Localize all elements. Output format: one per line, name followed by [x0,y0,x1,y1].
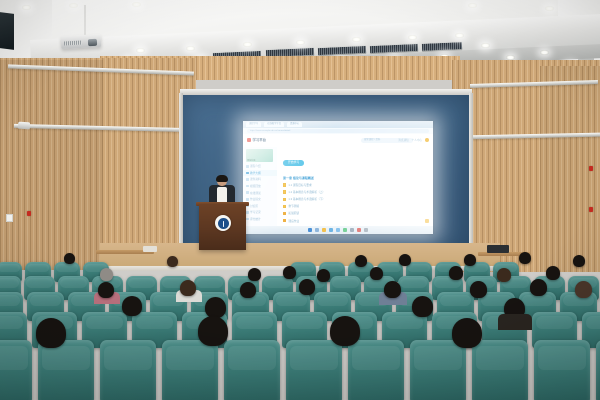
seat [38,340,94,400]
ceiling-downlight-icon [455,33,464,38]
ceiling-downlight-icon [136,48,145,53]
ceiling-downlight-icon [352,37,361,42]
audience-head [299,279,315,295]
wall-speaker-panel [0,12,14,50]
browser-tab[interactable]: 在线教学平台 [264,122,284,127]
audience-head [452,318,482,348]
start-learning-button[interactable]: 开始学习 [283,160,304,166]
sidebar-item-label: 课件资料 [250,177,261,181]
taskbar-office-icon[interactable] [357,228,362,233]
video-icon [283,190,286,193]
ceiling-downlight-icon [408,35,417,40]
sidebar-item-label: 教学大纲 [250,171,261,175]
audience-head [370,267,383,280]
list-item-label: 1.2 基本概念与术语解析（上） [288,190,325,194]
header-link-profile[interactable]: 个人中心 [412,138,422,142]
audience-head [180,280,196,296]
audience-head [384,281,401,298]
ceiling-downlight-icon [243,42,252,47]
audience-head [167,256,178,267]
backdrop-trim-right [469,93,473,255]
sidebar-item-quiz[interactable]: 在线测试 [243,189,277,196]
ceiling-downlight-icon [468,3,477,8]
list-item[interactable]: 课后作业 [283,219,428,223]
ceiling-downlight-icon [545,6,554,11]
sidebar-item-label: 课程介绍 [250,164,261,168]
audience-head [464,254,476,266]
sidebar-item-stats[interactable]: 评分统计 [243,216,277,223]
ceiling-downlight-icon [186,46,195,51]
av-equipment [143,246,157,252]
audience-head [497,268,511,282]
browser-tab[interactable]: 课程学习 [246,122,261,127]
sidebar-item-label: 学习记录 [250,210,261,214]
fire-alarm-icon [27,211,31,216]
seat [286,340,342,400]
list-bullet-icon [246,172,249,175]
seat [596,340,600,400]
auditorium-screenshot: 课程学习 在线教学平台 资源中心 https://www.example.edu… [0,0,600,400]
emblem-mark-icon [223,221,225,227]
video-icon [283,183,286,186]
security-camera-icon [18,122,30,130]
ceiling-downlight-icon [481,43,490,48]
seat-row [0,340,600,400]
audience-head [36,318,66,348]
seat [100,340,156,400]
list-item-label: 1.3 基本概念与术语解析（下） [288,197,325,201]
audience-shoulders [498,314,532,330]
course-thumbnail: 课程封面 [246,149,273,162]
list-item-label: 课后作业 [288,219,299,223]
audience-head [283,266,296,279]
list-item-label: 章节测验 [288,204,299,208]
browser-tab-bar: 课程学习 在线教学平台 资源中心 [243,121,433,128]
taskbar-start-icon[interactable] [308,228,313,233]
taskbar-player-icon[interactable] [350,228,355,233]
audience-head [575,281,592,298]
seat [0,340,32,400]
list-item-label: 1.1 课程目标与要求 [288,183,311,187]
audience-head [64,253,75,264]
doc-icon [283,212,286,215]
fire-alarm-icon [589,166,593,171]
list-item[interactable]: 拓展阅读 [283,211,428,215]
ceiling-downlight-icon [22,5,31,10]
audience-head [98,282,114,298]
audience-head [248,268,261,281]
ceiling-downlight-icon [69,3,78,8]
av-equipment [487,245,509,253]
audience-head [412,296,433,317]
logo-mark-icon [247,138,251,142]
browser-tab[interactable]: 资源中心 [287,122,302,127]
audience-head [122,296,142,316]
projector-mount-pole [84,5,86,36]
taskbar-mail-icon[interactable] [336,228,341,233]
audience-head [573,255,585,267]
audience-head [317,269,330,282]
audience-head [205,297,226,318]
list-bullet-icon [246,165,249,168]
air-vent-icon [422,41,462,52]
audience-head [330,316,360,346]
sidebar-item-intro[interactable]: 课程介绍 [243,163,277,170]
sidebar-item-label: 视频回放 [250,184,261,188]
site-logo-text: 学习平台 [253,137,267,142]
ceiling-downlight-icon [132,2,141,7]
header-links: 消息通知 个人中心 [398,138,429,142]
list-item[interactable]: 1.3 基本概念与术语解析（下） [283,197,428,201]
seat [162,340,218,400]
seat [410,340,466,400]
sidebar-item-records[interactable]: 学习记录 [243,209,277,216]
avatar[interactable] [425,138,429,142]
audience-head [470,281,487,298]
list-item[interactable]: 1.2 基本概念与术语解析（上） [283,190,428,194]
wall-outlet-icon [6,214,13,222]
taskbar-chat-icon[interactable] [343,228,348,233]
status-badge [425,219,430,224]
audience-head [449,266,463,280]
doc-icon [283,219,286,222]
sidebar-item-syllabus[interactable]: 教学大纲 [243,170,277,177]
section-heading: 第一章 绪论与课程概述 [283,176,428,180]
course-content: 开始学习 第一章 绪论与课程概述 1.1 课程目标与要求 1.2 基本概念与术语… [277,147,433,226]
list-bullet-icon [246,211,249,214]
seat [534,340,590,400]
sidebar-item-label: 作业提交 [250,197,261,201]
audience-head [240,282,256,298]
taskbar-search-icon[interactable] [315,228,320,233]
ceiling-downlight-icon [540,50,549,55]
os-taskbar [243,226,433,234]
audience-head [100,268,113,281]
audience-head [546,266,560,280]
taskbar-notes-icon[interactable] [364,228,369,233]
projection-screen: 课程学习 在线教学平台 资源中心 https://www.example.edu… [243,121,433,234]
emblem-inner-disc [218,218,229,229]
ceiling-downlight-icon [296,40,305,45]
taskbar-explorer-icon[interactable] [322,228,327,233]
audience-head [530,279,547,296]
wall-panel-left-near [0,60,103,270]
list-bullet-icon [246,198,249,201]
institution-emblem [215,215,231,231]
course-sidebar: 课程封面 课程介绍 教学大纲 课件资料 视频回放 [243,147,278,226]
sidebar-item-label: 在线测试 [250,191,261,195]
sidebar-item-label: 评分统计 [250,217,261,221]
audience-head [198,316,228,346]
list-bullet-icon [246,191,249,194]
quiz-icon [283,205,286,208]
seat [348,340,404,400]
fire-alarm-icon [589,207,593,212]
header-link-messages[interactable]: 消息通知 [398,138,408,142]
audience-head [399,254,411,266]
list-item[interactable]: 1.1 课程目标与要求 [283,183,428,187]
list-item-label: 拓展阅读 [288,211,299,215]
backdrop-trim-left [179,93,183,255]
taskbar-browser-icon[interactable] [329,228,334,233]
url-input[interactable]: https://www.example.edu.cn/course/detail [247,129,429,133]
list-item[interactable]: 章节测验 [283,204,428,208]
sidebar-item-materials[interactable]: 课件资料 [243,176,277,183]
audience-head [519,252,531,264]
audience-head [355,255,367,267]
sidebar-item-label: 讨论区 [250,204,258,208]
list-bullet-icon [246,185,249,188]
sidebar-item-video[interactable]: 视频回放 [243,183,277,190]
seat [224,340,280,400]
site-logo[interactable]: 学习平台 [247,137,266,142]
list-bullet-icon [246,178,249,181]
seat [472,340,528,400]
projector-lens-icon [88,39,97,46]
course-thumbnail-caption: 课程封面 [247,159,255,162]
list-bullet-icon [246,218,249,221]
video-icon [283,198,286,201]
presenter-hair [216,175,228,182]
